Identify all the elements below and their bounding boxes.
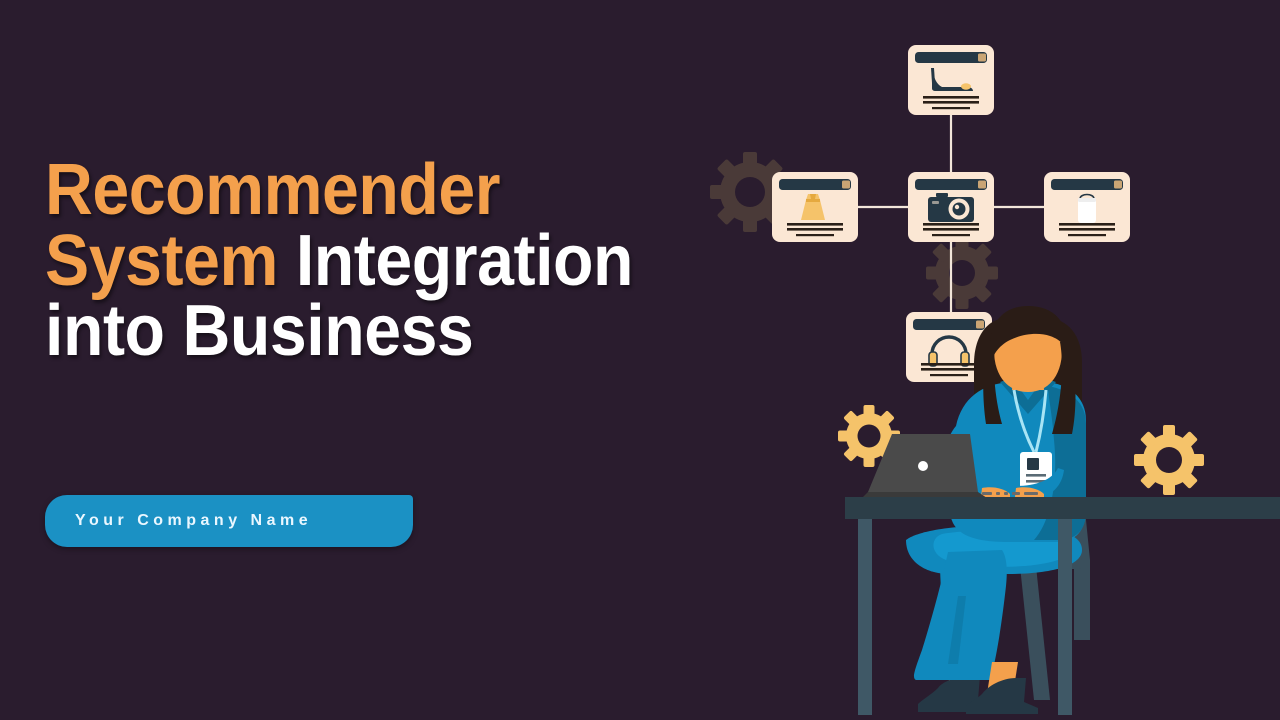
company-name-badge[interactable]: Your Company Name	[45, 495, 413, 547]
camera-icon	[928, 193, 974, 222]
page-title: Recommender System Integration into Busi…	[45, 155, 671, 367]
laptop-logo-dot	[918, 461, 928, 471]
office-desk	[845, 497, 1280, 715]
handbag-icon	[1078, 195, 1096, 224]
title-accent-line1: Recommender	[45, 150, 500, 230]
card-dress[interactable]	[772, 172, 858, 242]
company-name-label: Your Company Name	[45, 512, 312, 530]
title-block: Recommender System Integration into Busi…	[45, 155, 725, 367]
card-camera[interactable]	[908, 172, 994, 242]
title-rest-line2: Integration	[278, 221, 633, 301]
card-shoe[interactable]	[908, 45, 994, 115]
title-rest-line3: into Business	[45, 291, 473, 371]
title-accent-line2: System	[45, 221, 278, 301]
recommender-network-illustration	[690, 0, 1280, 720]
presentation-slide: Recommender System Integration into Busi…	[0, 0, 1280, 720]
card-handbag[interactable]	[1044, 172, 1130, 242]
gear-gold-right-icon	[1120, 411, 1219, 510]
